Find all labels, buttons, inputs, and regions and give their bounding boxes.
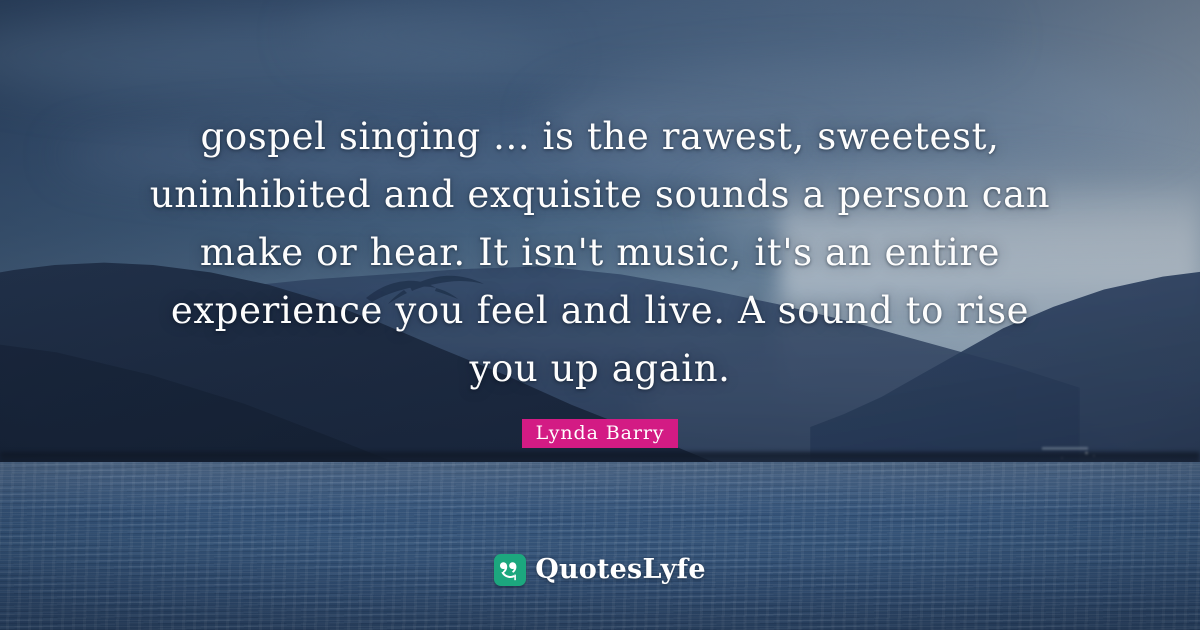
brand-logo[interactable]: QuotesLyfe (0, 554, 1200, 586)
quote-line: uninhibited and exquisite sounds a perso… (90, 166, 1110, 224)
quote-marks-icon (494, 554, 526, 586)
author-badge-container: Lynda Barry (0, 419, 1200, 448)
quote-line: experience you feel and live. A sound to… (90, 282, 1110, 340)
brand-name: QuotesLyfe (535, 556, 706, 584)
quote-line: gospel singing ... is the rawest, sweete… (90, 108, 1110, 166)
quote-text: gospel singing ... is the rawest, sweete… (0, 108, 1200, 398)
quote-line: you up again. (90, 340, 1110, 398)
water-sheen (0, 462, 1200, 514)
quote-line: make or hear. It isn't music, it's an en… (90, 224, 1110, 282)
lake-water (0, 462, 1200, 630)
author-badge[interactable]: Lynda Barry (522, 419, 679, 448)
quote-card: gospel singing ... is the rawest, sweete… (0, 0, 1200, 630)
